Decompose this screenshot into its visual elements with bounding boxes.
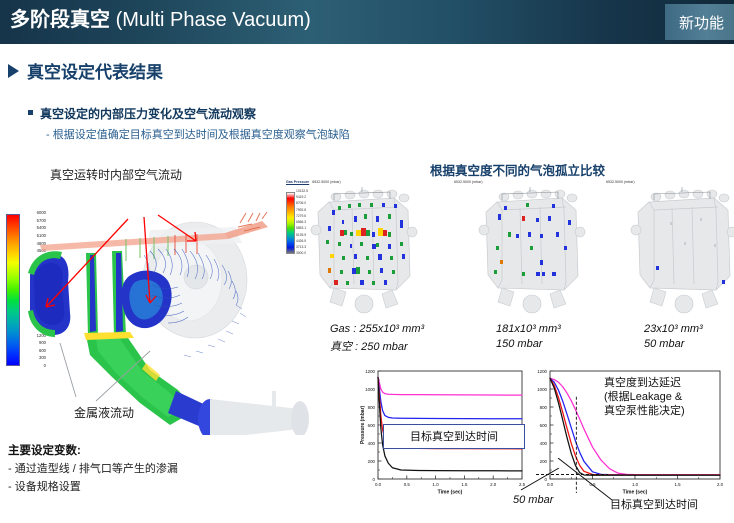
svg-text:1000: 1000	[537, 387, 547, 392]
svg-text:600: 600	[368, 423, 376, 428]
section-heading: 真空设定代表结果	[8, 58, 163, 83]
header-divider	[0, 44, 734, 46]
svg-text:600: 600	[540, 423, 548, 428]
casting-part-render-2	[452, 180, 600, 315]
svg-text:200: 200	[368, 459, 376, 464]
page-title-cn: 多阶段真空	[10, 9, 110, 31]
svg-text:0.5: 0.5	[404, 482, 411, 487]
slide: 多阶段真空 (Multi Phase Vacuum) 新功能 真空设定代表结果 …	[0, 0, 734, 523]
svg-text:1.5: 1.5	[674, 482, 681, 487]
svg-text:1200: 1200	[365, 369, 375, 374]
square-bullet-icon	[28, 110, 33, 115]
svg-text:1000: 1000	[365, 387, 375, 392]
panel-2-caption-line2: 150 mbar	[496, 338, 561, 350]
page-title-en: (Multi Phase Vacuum)	[116, 9, 311, 31]
panel-1-caption: Gas : 255x10³ mm³ 真空 : 250 mbar	[330, 323, 424, 354]
panel-2-caption-line1: 181x10³ mm³	[496, 323, 561, 335]
bubble-panel-1: Gas Pressure 6532.5000 (mbar) 10132.5 94…	[284, 180, 432, 315]
vacuum-delay-line3: 真空泵性能决定)	[604, 404, 685, 418]
target-vacuum-time-bottom-label: 目标真空到达时间	[610, 498, 698, 512]
svg-text:200: 200	[540, 459, 548, 464]
panel-2-caption: 181x10³ mm³ 150 mbar	[496, 323, 561, 350]
section-heading-label: 真空设定代表结果	[27, 58, 163, 83]
svg-text:Time (sec): Time (sec)	[438, 490, 463, 496]
bullet-level2: - 根据设定值确定目标真空到达时间及根据真空度观察气泡缺陷	[46, 126, 350, 142]
status-badge: 新功能	[665, 4, 734, 40]
key-variables-line1: - 通过造型线 / 排气口等产生的渗漏	[8, 460, 178, 476]
vacuum-delay-line2: (根据Leakage &	[604, 390, 685, 404]
panel-3-caption-line1: 23x10³ mm³	[644, 323, 703, 335]
panel-1-caption-line1: Gas : 255x10³ mm³	[330, 323, 424, 335]
triangle-bullet-icon	[8, 64, 19, 78]
svg-text:1.5: 1.5	[461, 482, 468, 487]
target-vacuum-time-box: 目标真空到达时间	[383, 424, 525, 449]
svg-text:800: 800	[368, 405, 376, 410]
svg-text:Time (sec): Time (sec)	[623, 490, 648, 496]
casting-part-render-3	[604, 180, 734, 315]
svg-text:1.0: 1.0	[632, 482, 639, 487]
vacuum-delay-line1: 真空度到达延迟	[604, 376, 685, 390]
page-title: 多阶段真空 (Multi Phase Vacuum)	[10, 6, 311, 34]
svg-text:400: 400	[540, 441, 548, 446]
bullet-level1-label: 真空设定的内部压力变化及空气流动观察	[40, 105, 256, 122]
svg-text:2.0: 2.0	[717, 482, 724, 487]
svg-text:Pressure (mbar): Pressure (mbar)	[360, 405, 366, 444]
panel-3-caption-line2: 50 mbar	[644, 338, 703, 350]
svg-text:1200: 1200	[537, 369, 547, 374]
key-variables-heading: 主要设定变数:	[8, 442, 178, 458]
panel-1-caption-line2: 真空 : 250 mbar	[330, 338, 424, 354]
svg-text:800: 800	[540, 405, 548, 410]
bubble-panel-3: 6532.5000 (mbar)	[604, 180, 734, 315]
key-variables-line2: - 设备规格设置	[8, 478, 178, 494]
key-variables-note: 主要设定变数: - 通过造型线 / 排气口等产生的渗漏 - 设备规格设置	[8, 442, 178, 494]
panel-3-caption: 23x10³ mm³ 50 mbar	[644, 323, 703, 350]
svg-text:1.0: 1.0	[433, 482, 440, 487]
svg-text:400: 400	[368, 441, 376, 446]
mbar50-label: 50 mbar	[513, 494, 553, 506]
bubble-panel-2: 6532.5000 (mbar)	[452, 180, 600, 315]
bullet-level1: 真空设定的内部压力变化及空气流动观察	[28, 105, 256, 122]
metal-flow-callout-label: 金属液流动	[74, 405, 134, 420]
comparison-title: 根据真空度不同的气泡孤立比较	[430, 160, 605, 179]
svg-text:0.0: 0.0	[375, 482, 382, 487]
cfd-title: 真空运转时内部空气流动	[50, 166, 182, 183]
casting-part-render-1	[284, 180, 432, 315]
slide-header: 多阶段真空 (Multi Phase Vacuum) 新功能	[0, 0, 734, 44]
svg-text:2.0: 2.0	[490, 482, 497, 487]
vacuum-delay-annotation: 真空度到达延迟 (根据Leakage & 真空泵性能决定)	[604, 376, 685, 418]
